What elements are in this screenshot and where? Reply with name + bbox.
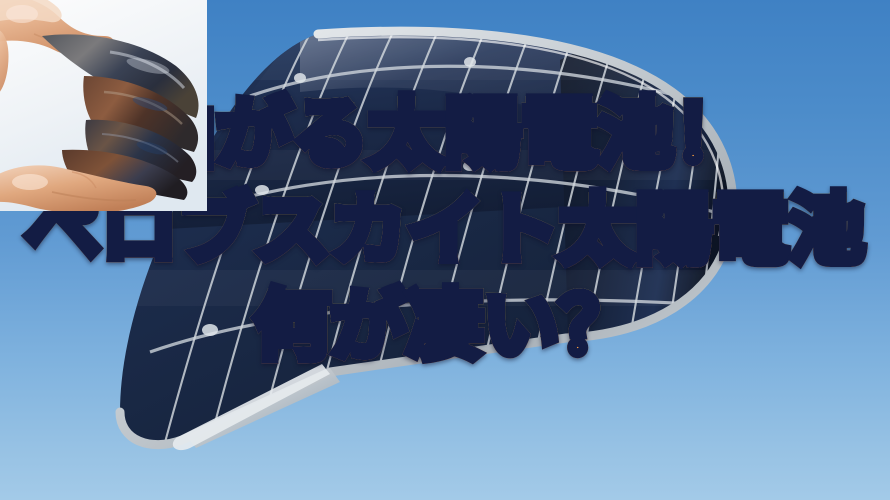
youtube-thumbnail: 曲がる太陽電池！ ペロブスカイト太陽電池 何が凄い？ [0,0,890,500]
inset-photo-flexible-cell [0,0,207,211]
inset-illustration [0,0,207,211]
